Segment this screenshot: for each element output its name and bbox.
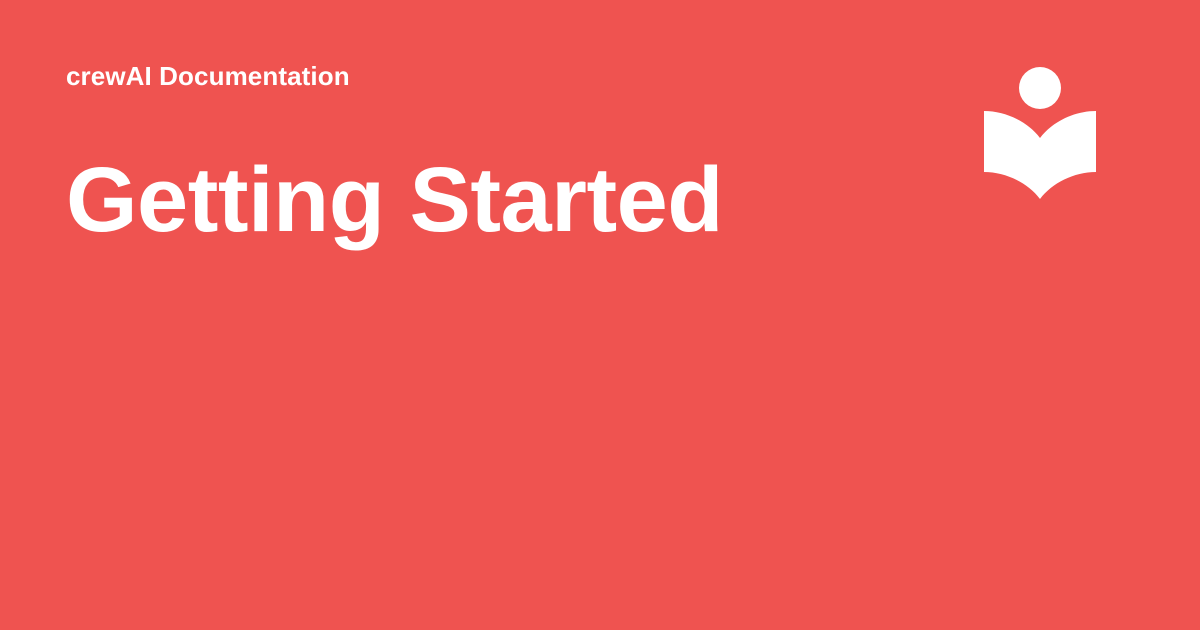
card-text-block: crewAI Documentation Getting Started xyxy=(66,60,926,250)
site-name: crewAI Documentation xyxy=(66,60,926,93)
reader-head-icon xyxy=(1019,67,1061,109)
open-book-icon xyxy=(984,111,1096,199)
social-preview-card: crewAI Documentation Getting Started xyxy=(0,0,1200,630)
book-reader-icon xyxy=(980,60,1100,200)
logo-mark xyxy=(980,60,1100,200)
page-title: Getting Started xyxy=(66,93,926,250)
